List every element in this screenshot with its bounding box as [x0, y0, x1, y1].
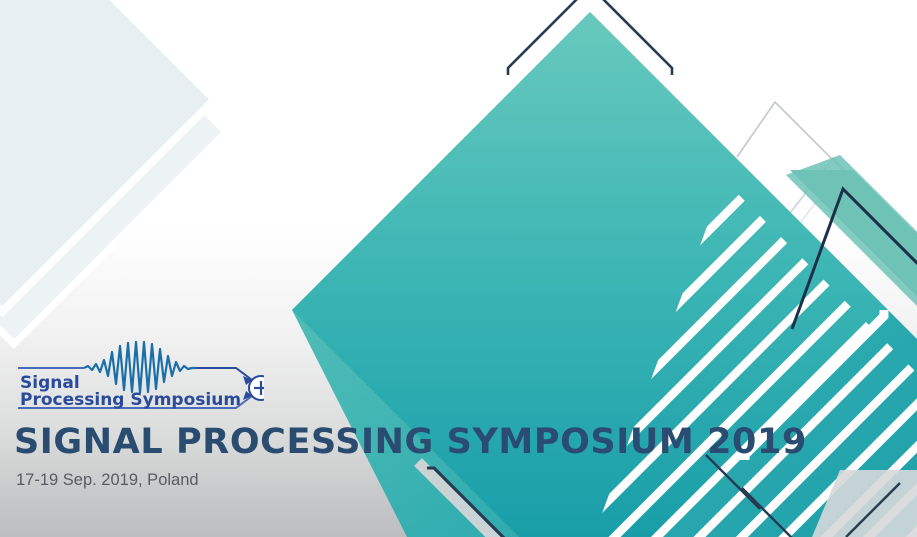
logo-container[interactable]: Signal Processing Symposium Signal Proce… [14, 340, 264, 415]
logo-graphic: Signal Processing Symposium [14, 340, 264, 415]
page-title: SIGNAL PROCESSING SYMPOSIUM 2019 [14, 421, 884, 463]
conference-banner: Signal Processing Symposium Signal Proce… [0, 0, 917, 537]
logo-wordmark-line2: Processing Symposium [20, 390, 241, 410]
logo-waveform [84, 342, 196, 393]
logo-output-line [196, 368, 252, 380]
banner-text-block: Signal Processing Symposium Signal Proce… [14, 340, 884, 491]
event-dateline: 17-19 Sep. 2019, Poland [16, 469, 884, 491]
navy-diagonal-bottom-right-2 [742, 488, 800, 537]
